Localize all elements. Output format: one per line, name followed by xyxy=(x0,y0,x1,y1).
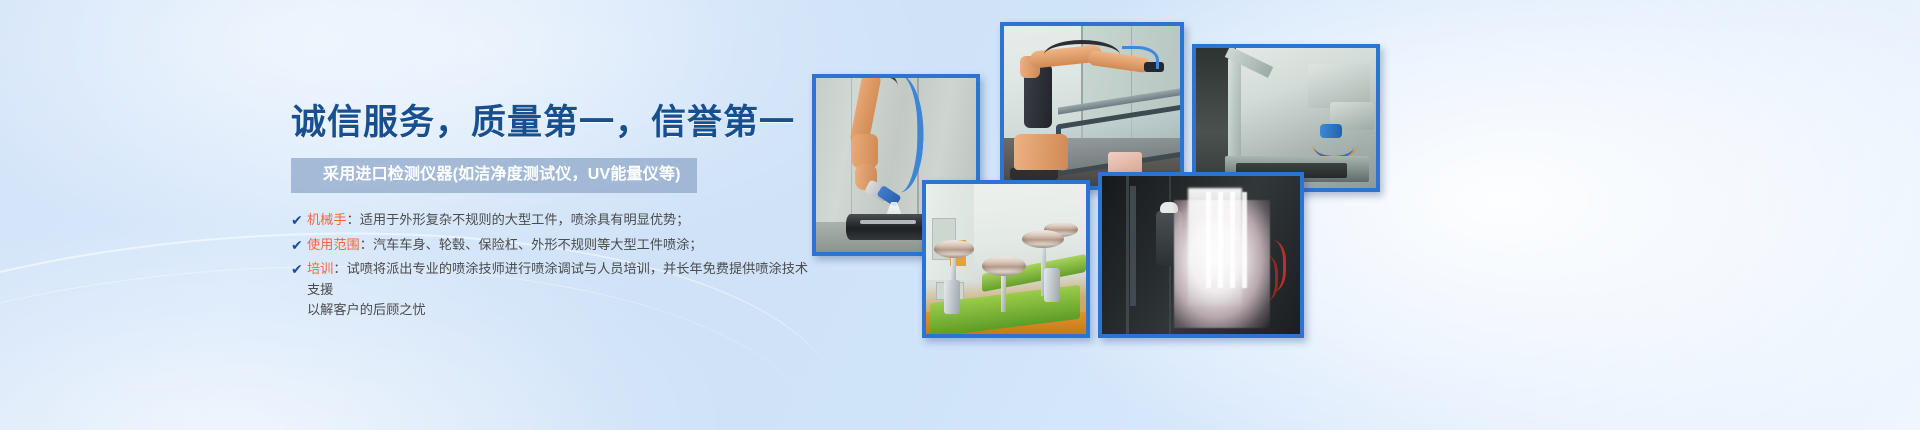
check-icon: ✔ xyxy=(291,259,307,279)
robot-elbow xyxy=(852,134,878,168)
wheel-hub xyxy=(1022,230,1064,248)
wheel-hub-conveyor-line-photo xyxy=(922,180,1090,338)
vertical-pipe xyxy=(1130,186,1136,306)
bullet-separator: ： xyxy=(360,237,373,252)
feature-bullet-list: ✔ 机械手：适用于外形复杂不规则的大型工件，喷涂具有明显优势； ✔ 使用范围：汽… xyxy=(291,210,821,321)
bullet-separator: ： xyxy=(333,261,346,276)
wheel-hub xyxy=(934,240,974,258)
light-stripe xyxy=(1242,192,1247,288)
bullet-label: 机械手 xyxy=(307,212,347,227)
banner-headline: 诚信服务，质量第一，信誉第一 xyxy=(291,100,821,146)
bullet-text: 机械手：适用于外形复杂不规则的大型工件，喷涂具有明显优势； xyxy=(307,210,689,231)
bullet-label: 使用范围 xyxy=(307,237,360,252)
banner-copy-block: 诚信服务，质量第一，信誉第一 采用进口检测仪器(如洁净度测试仪，UV能量仪等) … xyxy=(291,100,821,325)
photo-content xyxy=(926,184,1086,334)
banner-subtitle-bar: 采用进口检测仪器(如洁净度测试仪，UV能量仪等) xyxy=(291,158,697,193)
bullet-label: 培训 xyxy=(307,261,333,276)
bullet-text: 使用范围：汽车车身、轮毂、保险杠、外形不规则等大型工件喷涂； xyxy=(307,235,703,256)
bullet-body: 汽车车身、轮毂、保险杠、外形不规则等大型工件喷涂； xyxy=(373,237,703,252)
list-item: ✔ 机械手：适用于外形复杂不规则的大型工件，喷涂具有明显优势； xyxy=(291,210,821,231)
spray-booth-equipment-photo xyxy=(1192,44,1380,192)
check-icon: ✔ xyxy=(291,210,307,230)
cylinder xyxy=(944,280,960,314)
light-stripe xyxy=(1230,192,1235,288)
spray-booth-white-panel-photo xyxy=(1098,172,1304,338)
robot-base xyxy=(1014,134,1068,170)
light-stripe xyxy=(1218,192,1223,288)
structural-beam xyxy=(1228,59,1241,163)
bullet-body: 试喷将派出专业的喷涂技师进行喷涂调试与人员培训，并长年免费提供喷涂技术支援 xyxy=(307,261,808,297)
light-stripe xyxy=(1206,192,1211,288)
workpiece-highlight xyxy=(860,220,916,224)
wheel-hub xyxy=(982,256,1026,276)
black-cable xyxy=(1044,40,1120,70)
support-rod xyxy=(1001,274,1006,312)
abb-robot-arm-conveyor-photo xyxy=(1000,22,1184,190)
photo-content xyxy=(1004,26,1180,186)
list-item: ✔ 使用范围：汽车车身、轮毂、保险杠、外形不规则等大型工件喷涂； xyxy=(291,235,821,256)
photo-content xyxy=(1102,176,1300,334)
photo-content xyxy=(1196,48,1376,188)
bullet-text: 培训：试喷将派出专业的喷涂技师进行喷涂调试与人员培训，并长年免费提供喷涂技术支援… xyxy=(307,259,821,321)
list-item: ✔ 培训：试喷将派出专业的喷涂技师进行喷涂调试与人员培训，并长年免费提供喷涂技术… xyxy=(291,259,821,321)
wall-streak xyxy=(1126,176,1129,334)
bullet-separator: ： xyxy=(347,212,360,227)
promo-banner: 诚信服务，质量第一，信誉第一 采用进口检测仪器(如洁净度测试仪，UV能量仪等) … xyxy=(0,0,1920,430)
bullet-body: 适用于外形复杂不规则的大型工件，喷涂具有明显优势； xyxy=(360,212,690,227)
bullet-body-line-two: 以解客户的后顾之忧 xyxy=(307,300,821,321)
cylinder xyxy=(1044,268,1060,302)
wrapped-part xyxy=(1108,152,1142,174)
check-icon: ✔ xyxy=(291,235,307,255)
